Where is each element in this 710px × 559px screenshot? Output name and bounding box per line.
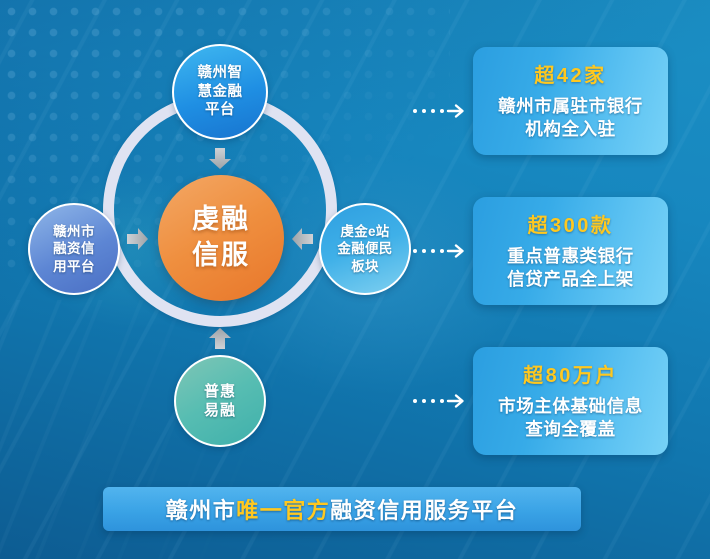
stat-card-line: 市场主体基础信息: [498, 395, 643, 418]
arrow-down-icon: [208, 148, 232, 175]
node-line: 平台: [205, 101, 235, 120]
dotted-arrow-right-icon: [411, 391, 467, 411]
node-line: 用平台: [53, 258, 95, 275]
stat-card-products[interactable]: 超300款 重点普惠类银行 信贷产品全上架: [473, 197, 668, 305]
arrow-up-icon: [208, 328, 232, 355]
arrow-left-icon: [292, 227, 314, 256]
stat-card-line: 信贷产品全上架: [507, 268, 634, 291]
node-line: 板块: [351, 258, 379, 275]
node-line: 普惠: [204, 382, 236, 401]
node-smart-finance-platform[interactable]: 赣州智 慧金融 平台: [172, 44, 268, 140]
stat-card-line: 机构全入驻: [498, 118, 643, 141]
infographic-canvas: 赣州智 慧金融 平台 赣州市 融资信 用平台 虔金e站 金融便民 板块 普惠 易…: [0, 0, 710, 559]
node-inclusive-finance[interactable]: 普惠 易融: [174, 355, 266, 447]
banner-prefix: 赣州市: [166, 493, 237, 525]
node-qianjin-estation[interactable]: 虔金e站 金融便民 板块: [319, 203, 411, 295]
stat-card-description: 重点普惠类银行 信贷产品全上架: [507, 245, 634, 291]
stat-card-headline: 超80万户: [523, 359, 618, 388]
node-line: 赣州市: [53, 223, 95, 240]
node-line: 虔金e站: [340, 223, 389, 240]
stat-card-description: 赣州市属驻市银行 机构全入驻: [498, 95, 643, 141]
dotted-arrow-right-icon: [411, 101, 467, 121]
bottom-banner: 赣州市唯一官方融资信用服务平台: [103, 487, 581, 531]
node-line: 赣州智: [198, 64, 243, 83]
dotted-arrow-right-icon: [411, 241, 467, 261]
stat-card-line: 查询全覆盖: [498, 418, 643, 441]
node-line: 融资信: [53, 240, 95, 257]
node-line: 金融便民: [337, 240, 392, 257]
banner-suffix: 融资信用服务平台: [330, 493, 518, 525]
stat-card-headline: 超42家: [534, 59, 606, 88]
stat-card-description: 市场主体基础信息 查询全覆盖: [498, 395, 643, 441]
arrow-right-icon: [127, 227, 149, 256]
banner-highlight: 唯一官方: [236, 493, 330, 525]
stat-card-headline: 超300款: [528, 209, 614, 238]
node-line: 慧金融: [198, 83, 243, 102]
stat-card-banks[interactable]: 超42家 赣州市属驻市银行 机构全入驻: [473, 47, 668, 155]
center-node-line: 信服: [192, 238, 250, 274]
stat-card-line: 重点普惠类银行: [507, 245, 634, 268]
stat-card-entities[interactable]: 超80万户 市场主体基础信息 查询全覆盖: [473, 347, 668, 455]
center-node-line: 虔融: [192, 202, 250, 238]
node-credit-platform[interactable]: 赣州市 融资信 用平台: [28, 203, 120, 295]
stat-card-line: 赣州市属驻市银行: [498, 95, 643, 118]
center-node[interactable]: 虔融 信服: [158, 175, 284, 301]
node-line: 易融: [204, 401, 236, 420]
